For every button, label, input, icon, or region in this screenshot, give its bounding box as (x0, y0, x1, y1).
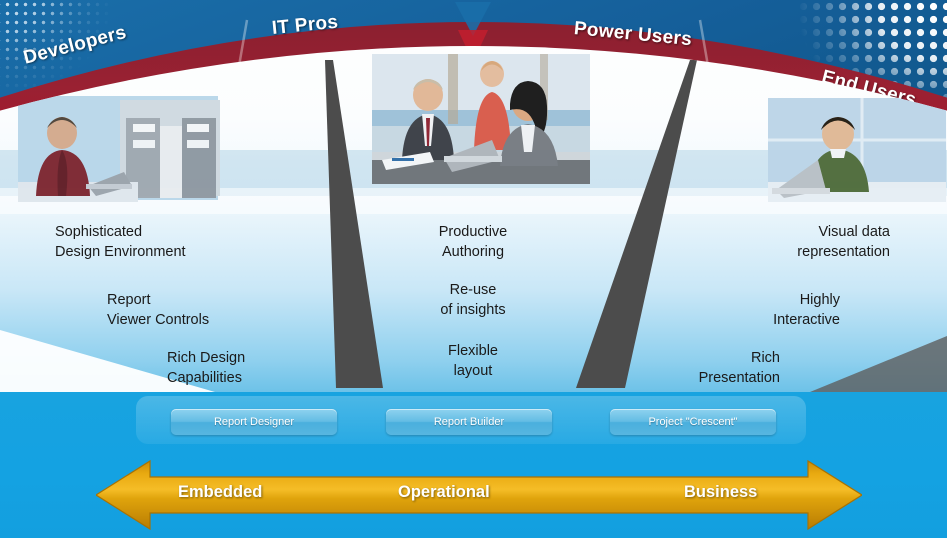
spectrum-label-embedded: Embedded (178, 483, 262, 502)
feature-text: Sophisticated Design Environment (55, 222, 186, 262)
product-button-report-builder[interactable]: Report Builder (386, 409, 552, 435)
feature-line: Capabilities (167, 368, 245, 388)
stage-surface (0, 0, 947, 392)
feature-line: of insights (440, 300, 505, 320)
photo-business-meeting (372, 54, 590, 184)
feature-line: Rich (699, 348, 780, 368)
spectrum-label-operational: Operational (398, 483, 490, 502)
feature-text: Report Viewer Controls (107, 290, 209, 330)
product-button-report-designer[interactable]: Report Designer (171, 409, 337, 435)
feature-text: Rich Presentation (699, 348, 780, 388)
feature-line: Sophisticated (55, 222, 186, 242)
feature-text: Re-use of insights (440, 280, 505, 320)
feature-text: Flexible layout (448, 341, 498, 381)
product-button-project-crescent[interactable]: Project "Crescent" (610, 409, 776, 435)
feature-line: Re-use (440, 280, 505, 300)
photo-end-user (768, 98, 946, 202)
feature-line: Rich Design (167, 348, 245, 368)
feature-line: Interactive (773, 310, 840, 330)
feature-line: Highly (773, 290, 840, 310)
feature-line: Presentation (699, 368, 780, 388)
feature-line: Productive (439, 222, 508, 242)
feature-line: layout (448, 361, 498, 381)
feature-text: Visual data representation (797, 222, 890, 262)
feature-line: Flexible (448, 341, 498, 361)
feature-line: Visual data (797, 222, 890, 242)
reporting-continuum-diagram: Developers IT Pros Power Users End Users (0, 0, 947, 538)
feature-text: Productive Authoring (439, 222, 508, 262)
feature-line: Design Environment (55, 242, 186, 262)
feature-text: Rich Design Capabilities (167, 348, 245, 388)
spectrum-label-business: Business (684, 483, 757, 502)
feature-text: Highly Interactive (773, 290, 840, 330)
feature-line: Viewer Controls (107, 310, 209, 330)
feature-line: Report (107, 290, 209, 310)
feature-line: Authoring (439, 242, 508, 262)
feature-line: representation (797, 242, 890, 262)
